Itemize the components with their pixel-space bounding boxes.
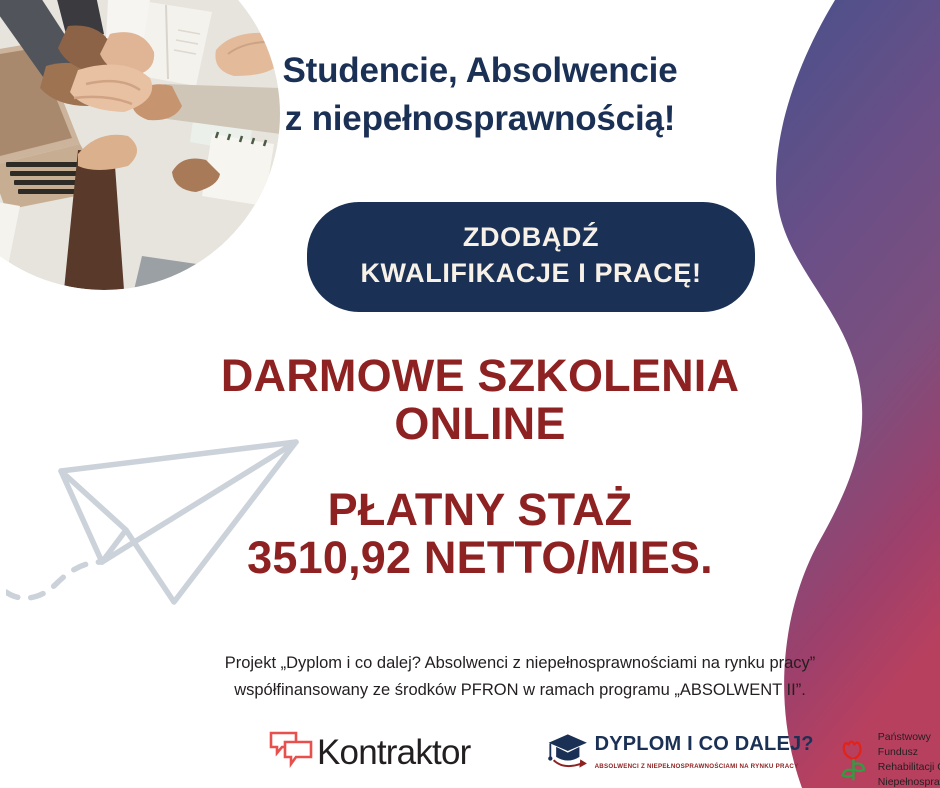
page-title: Studencie, Absolwencie z niepełnosprawno… [160, 47, 800, 144]
pfron-name: Państwowy Fundusz Rehabilitacji Osób Nie… [878, 730, 940, 788]
graduation-cap-icon [547, 728, 589, 774]
kontraktor-wordmark: Kontraktor [317, 729, 470, 770]
logo-pfron: Państwowy Fundusz Rehabilitacji Osób Nie… [838, 730, 940, 788]
pfron-line-1: Państwowy Fundusz [878, 730, 940, 760]
headline-line-2: z niepełnosprawnością! [160, 95, 800, 143]
pfron-line-2: Rehabilitacji Osób [878, 760, 940, 775]
headline-line-1: Studencie, Absolwencie [160, 47, 800, 95]
poster-content: Studencie, Absolwencie z niepełnosprawno… [160, 0, 800, 788]
cta-line-1: ZDOBĄDŹ [307, 220, 755, 256]
funding-note-line-2: współfinansowany ze środków PFRON w rama… [160, 677, 880, 704]
offer-training: DARMOWE SZKOLENIA ONLINE [160, 352, 800, 447]
offer-training-line-1: DARMOWE SZKOLENIA [160, 352, 800, 400]
offer-internship: PŁATNY STAŻ 3510,92 NETTO/MIES. [160, 486, 800, 581]
pfron-line-3: Niepełnosprawnych [878, 775, 940, 788]
cta-badge[interactable]: ZDOBĄDŹ KWALIFIKACJE I PRACĘ! [307, 202, 755, 312]
poster: Studencie, Absolwencie z niepełnosprawno… [0, 0, 940, 788]
offer-internship-line-1: PŁATNY STAŻ [160, 486, 800, 534]
offer-training-line-2: ONLINE [160, 400, 800, 448]
tulip-icon [838, 738, 871, 782]
project-funding-note: Projekt „Dyplom i co dalej? Absolwenci z… [160, 650, 880, 703]
funding-note-line-1: Projekt „Dyplom i co dalej? Absolwenci z… [160, 650, 880, 677]
logo-row: Kontraktor DYPLOM I CO DALEJ? [110, 726, 940, 784]
speech-bubbles-icon [268, 730, 314, 770]
offer-internship-line-2: 3510,92 NETTO/MIES. [160, 534, 800, 582]
cta-line-2: KWALIFIKACJE I PRACĘ! [307, 256, 755, 292]
logo-kontraktor: Kontraktor [268, 729, 470, 770]
dyplom-subtitle: ABSOLWENCI Z NIEPEŁNOSPRAWNOŚCIAMI NA RY… [595, 763, 799, 770]
dyplom-title: DYPLOM I CO DALEJ? [595, 733, 814, 755]
